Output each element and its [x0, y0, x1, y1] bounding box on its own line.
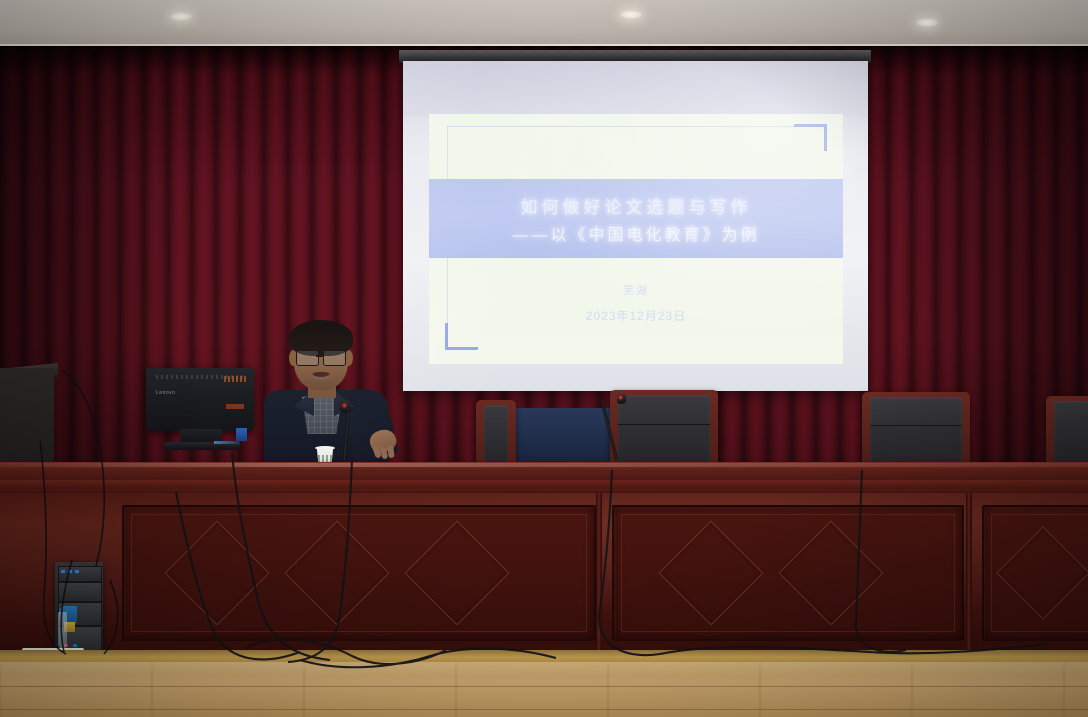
floor-plank-seam — [0, 686, 1088, 687]
monitor-badge-icon — [224, 376, 246, 382]
auditorium-photo: 如何做好论文选题与写作 ——以《中国电化教育》为例 芜湖 2023年12月23日 — [0, 0, 1088, 717]
rack-status-led — [75, 570, 79, 573]
conference-chair — [476, 400, 516, 464]
presentation-slide: 如何做好论文选题与写作 ——以《中国电化教育》为例 芜湖 2023年12月23日 — [429, 114, 843, 364]
floor-plank-seam — [0, 709, 1088, 710]
slide-footer: 芜湖 2023年12月23日 — [429, 282, 843, 324]
slide-corner-bracket-top-right — [794, 124, 827, 151]
diamond-carving — [779, 521, 884, 626]
slide-place: 芜湖 — [623, 282, 649, 298]
table-panel-inner — [621, 514, 955, 632]
diamond-carving — [285, 521, 390, 626]
chair-backrest — [870, 397, 962, 462]
downlight-mid-icon — [620, 10, 642, 19]
table-top-highlight — [0, 463, 1088, 467]
diamond-carving — [165, 521, 270, 626]
conference-chair — [610, 390, 718, 464]
slide-subtitle: ——以《中国电化教育》为例 — [512, 221, 759, 245]
diamond-carving — [996, 526, 1088, 619]
table-panel-divider — [966, 493, 972, 653]
conference-chair — [1046, 396, 1088, 464]
water-bottle — [58, 612, 67, 648]
table-panel-inner — [131, 514, 587, 632]
floor-reflection — [0, 662, 1088, 676]
slide-title-band: 如何做好论文选题与写作 ——以《中国电化教育》为例 — [429, 179, 843, 258]
table-carved-panel — [982, 505, 1088, 641]
chair-seam — [618, 424, 710, 425]
screen-top-band — [403, 61, 868, 117]
downlight-left-icon — [170, 12, 192, 21]
monitor-brand-label: Lenovo — [156, 390, 175, 396]
monitor-label-icon — [226, 404, 244, 409]
chair-seam — [870, 425, 962, 426]
table-panel-divider — [596, 493, 602, 653]
microphone-indicator-led — [343, 404, 346, 407]
rack-unit — [58, 566, 102, 582]
computer-monitor: Lenovo — [146, 368, 254, 450]
slide-corner-bracket-bottom-left — [445, 323, 478, 350]
microphone-indicator-led — [619, 396, 622, 399]
rack-unit — [58, 582, 102, 602]
rack-status-led — [68, 570, 72, 573]
slide-date: 2023年12月23日 — [586, 307, 686, 324]
slide-title: 如何做好论文选题与写作 — [521, 193, 752, 218]
paper-cup-pattern — [318, 455, 332, 462]
table-panel-inner — [991, 514, 1088, 632]
monitor-power-led — [214, 441, 240, 444]
monitor-cable-connector — [236, 428, 247, 441]
chair-backrest — [618, 395, 710, 462]
glasses-lens-left — [296, 350, 319, 366]
slide-frame-top — [447, 126, 823, 127]
rack-status-led — [73, 644, 77, 647]
table-carved-panel — [122, 505, 596, 641]
diamond-carving — [659, 521, 764, 626]
rack-status-led — [61, 570, 65, 573]
chair-backrest — [1054, 401, 1088, 462]
diamond-carving — [405, 521, 510, 626]
downlight-right-icon — [916, 18, 938, 27]
glasses-bridge — [316, 355, 324, 357]
table-carved-panel — [612, 505, 964, 641]
monitor-rear-panel: Lenovo — [146, 368, 254, 431]
presenter-mouth — [312, 372, 330, 380]
projection-screen: 如何做好论文选题与写作 ——以《中国电化教育》为例 芜湖 2023年12月23日 — [403, 61, 868, 391]
conference-chair — [862, 392, 970, 464]
glasses-lens-right — [323, 350, 346, 366]
chair-backrest — [484, 405, 508, 462]
